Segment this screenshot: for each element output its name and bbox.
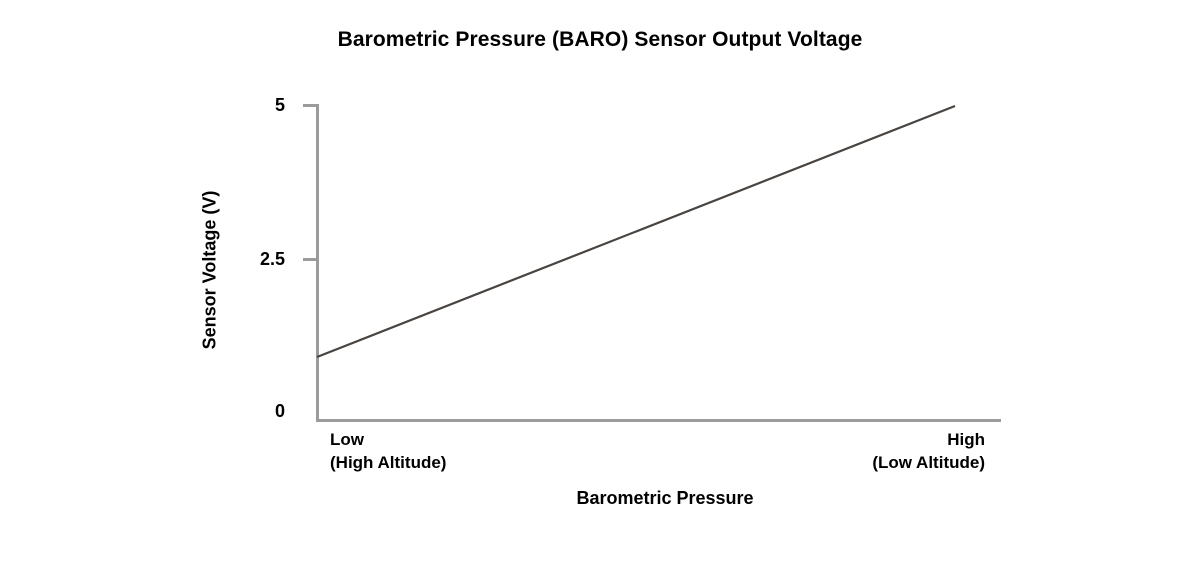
- chart-canvas: Barometric Pressure (BARO) Sensor Output…: [0, 0, 1200, 579]
- x-category-high-secondary: (Low Altitude): [685, 451, 985, 474]
- x-category-label-high: High (Low Altitude): [685, 428, 985, 474]
- x-category-low-secondary: (High Altitude): [330, 451, 446, 474]
- x-category-high-primary: High: [685, 428, 985, 451]
- data-series-line: [317, 106, 955, 357]
- x-axis-title: Barometric Pressure: [365, 488, 965, 509]
- x-category-low-primary: Low: [330, 428, 446, 451]
- x-category-label-low: Low (High Altitude): [330, 428, 446, 474]
